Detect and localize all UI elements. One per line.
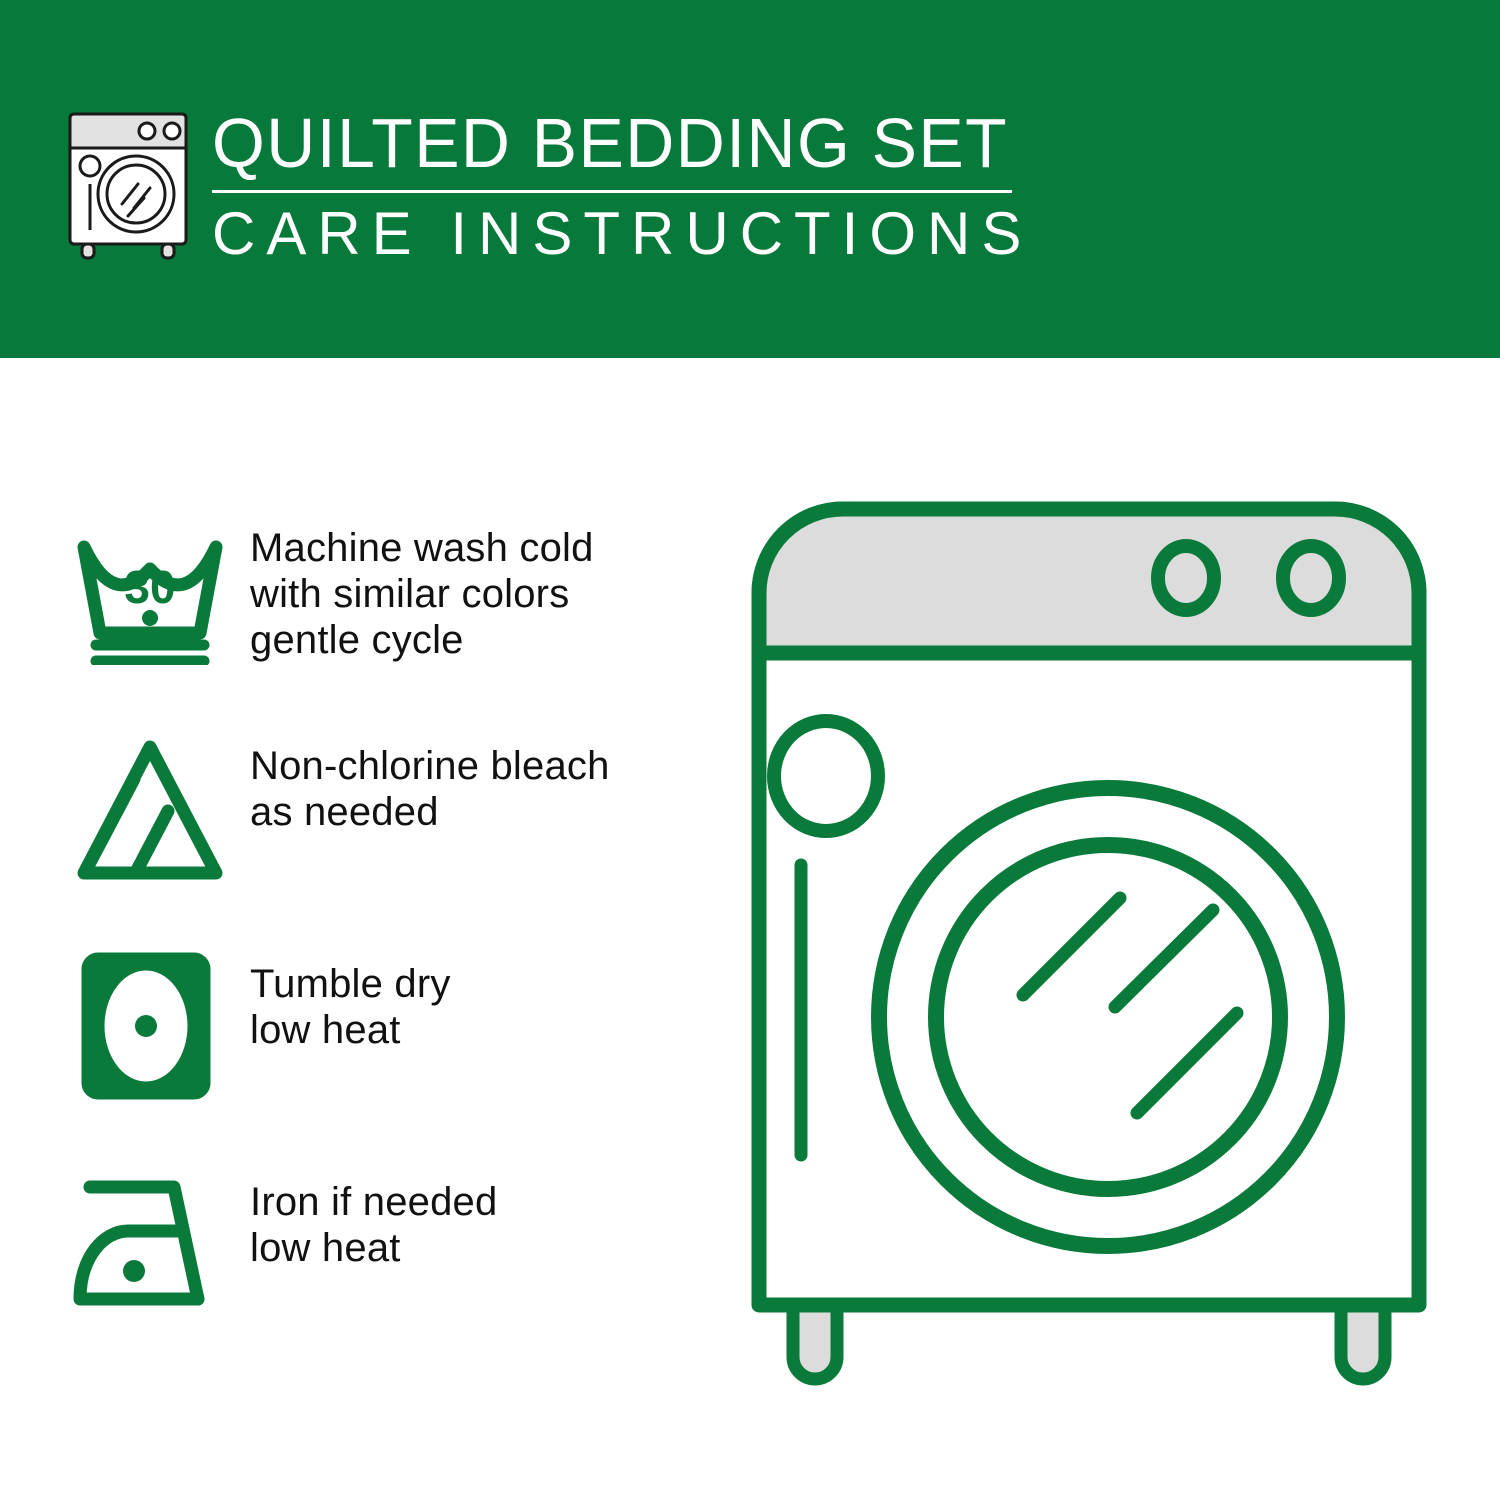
care-text-wash: Machine wash cold with similar colors ge…: [230, 505, 594, 663]
care-line: gentle cycle: [250, 617, 594, 663]
care-text-iron: Iron if needed low heat: [230, 1159, 497, 1271]
care-instructions-list: 30 Machine wash cold with similar colors…: [70, 505, 710, 1377]
front-load-washing-machine-illustration: [745, 495, 1445, 1425]
bleach-triangle-icon: [70, 723, 230, 873]
care-line: low heat: [250, 1225, 497, 1271]
iron-low-icon: [70, 1159, 230, 1309]
care-row-tumble-dry: Tumble dry low heat: [70, 941, 710, 1159]
care-text-bleach: Non-chlorine bleach as needed: [230, 723, 610, 835]
care-line: Machine wash cold: [250, 525, 594, 571]
care-line: as needed: [250, 789, 610, 835]
care-line: Iron if needed: [250, 1179, 497, 1225]
care-instructions-page: QUILTED BEDDING SET CARE INSTRUCTIONS 30: [0, 0, 1500, 1500]
page-subtitle: CARE INSTRUCTIONS: [212, 199, 1022, 269]
care-line: with similar colors: [250, 571, 594, 617]
page-title: QUILTED BEDDING SET: [212, 104, 998, 182]
care-line: low heat: [250, 1007, 451, 1053]
care-text-tumble-dry: Tumble dry low heat: [230, 941, 451, 1053]
tumble-dry-low-icon: [70, 941, 230, 1091]
washing-machine-icon: [62, 108, 202, 260]
care-row-bleach: Non-chlorine bleach as needed: [70, 723, 710, 941]
header-text: QUILTED BEDDING SET CARE INSTRUCTIONS: [212, 104, 1022, 269]
care-line: Non-chlorine bleach: [250, 743, 610, 789]
care-line: Tumble dry: [250, 961, 451, 1007]
wash-temperature-value: 30: [124, 561, 175, 613]
care-row-wash: 30 Machine wash cold with similar colors…: [70, 505, 710, 723]
title-divider: [212, 190, 1012, 193]
care-row-iron: Iron if needed low heat: [70, 1159, 710, 1377]
header-band: QUILTED BEDDING SET CARE INSTRUCTIONS: [0, 0, 1500, 358]
wash-tub-30-icon: 30: [70, 505, 230, 655]
